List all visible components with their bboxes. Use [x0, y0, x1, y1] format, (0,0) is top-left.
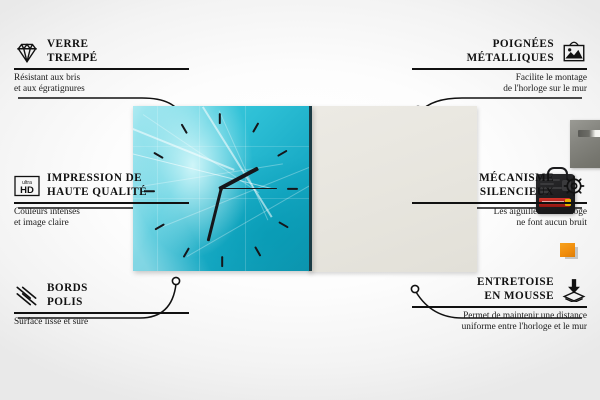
feature-divider — [412, 202, 587, 204]
foam-spacer-arrow-icon — [561, 278, 587, 302]
feature-desc-line1: Les aiguilles de l'horloge — [412, 207, 587, 219]
feature-entretoise-en-mousse[interactable]: ENTRETOISE EN MOUSSE Permet de maintenir… — [412, 276, 587, 334]
feature-desc-line2: ne font aucun bruit — [412, 218, 587, 230]
feature-desc-line1: Résistant aux bris — [14, 73, 189, 85]
feature-desc-line1: Couleurs intenses — [14, 207, 189, 219]
feature-mecanisme-silencieux[interactable]: MÉCANISME SILENCIEUX Les aiguilles de l'… — [412, 172, 587, 230]
feature-desc-line1: Surface lisse et sûre — [14, 317, 189, 329]
feature-divider — [412, 306, 587, 308]
clock-tick — [219, 113, 221, 124]
clock-tick — [254, 246, 261, 257]
clock-second-hand — [219, 188, 277, 190]
feature-desc-line2: uniforme entre l'horloge et le mur — [412, 322, 587, 334]
clock-tick — [153, 151, 164, 158]
feature-title-line2: HAUTE QUALITÉ — [47, 186, 147, 200]
feature-desc-line2: et image claire — [14, 218, 189, 230]
feature-poignees-metalliques[interactable]: POIGNÉES MÉTALLIQUES Facilite le montage… — [412, 38, 587, 96]
polished-edges-icon — [14, 284, 40, 308]
feature-title-line1: POIGNÉES — [467, 38, 554, 52]
metal-hanger-plate — [570, 120, 600, 168]
gear-icon — [561, 174, 587, 198]
feature-title-line2: EN MOUSSE — [477, 290, 554, 304]
feature-title-line2: SILENCIEUX — [479, 186, 554, 200]
ultra-hd-big-label: HD — [20, 185, 34, 196]
feature-title-line1: BORDS — [47, 282, 88, 296]
feature-desc-line2: de l'horloge sur le mur — [412, 84, 587, 96]
feature-bords-polis[interactable]: BORDS POLIS Surface lisse et sûre — [14, 282, 189, 328]
feature-title-line1: VERRE — [47, 38, 98, 52]
feature-impression-haute-qualite[interactable]: ultra HD IMPRESSION DE HAUTE QUALITÉ Cou… — [14, 172, 189, 230]
feature-divider — [412, 68, 587, 70]
clock-tick — [277, 149, 288, 156]
feature-verre-trempe[interactable]: VERRE TREMPÉ Résistant aux bris et aux é… — [14, 38, 189, 96]
feature-desc-line2: et aux égratignures — [14, 84, 189, 96]
clock-tick — [278, 221, 289, 228]
clock-tick — [252, 122, 259, 133]
feature-desc-line1: Permet de maintenir une distance — [412, 311, 587, 323]
feature-title-line2: POLIS — [47, 296, 88, 310]
feature-divider — [14, 312, 189, 314]
hanger-keyhole-slot — [578, 130, 600, 137]
clock-tick — [221, 256, 223, 267]
feature-title-line1: ENTRETOISE — [477, 276, 554, 290]
picture-frame-hanger-icon — [561, 40, 587, 64]
ultra-hd-icon: ultra HD — [14, 174, 40, 198]
feature-divider — [14, 202, 189, 204]
clock-tick — [183, 247, 190, 258]
feature-divider — [14, 68, 189, 70]
foam-spacer — [560, 243, 575, 257]
diamond-icon — [14, 40, 40, 64]
feature-desc-line1: Facilite le montage — [412, 73, 587, 85]
clock-tick — [287, 187, 298, 189]
feature-title-line2: TREMPÉ — [47, 52, 98, 66]
infographic-canvas: VERRE TREMPÉ Résistant aux bris et aux é… — [0, 0, 600, 400]
clock-tick — [181, 123, 188, 134]
feature-title-line1: IMPRESSION DE — [47, 172, 147, 186]
feature-title-line2: MÉTALLIQUES — [467, 52, 554, 66]
clock-minute-hand — [206, 186, 223, 241]
feature-title-line1: MÉCANISME — [479, 172, 554, 186]
